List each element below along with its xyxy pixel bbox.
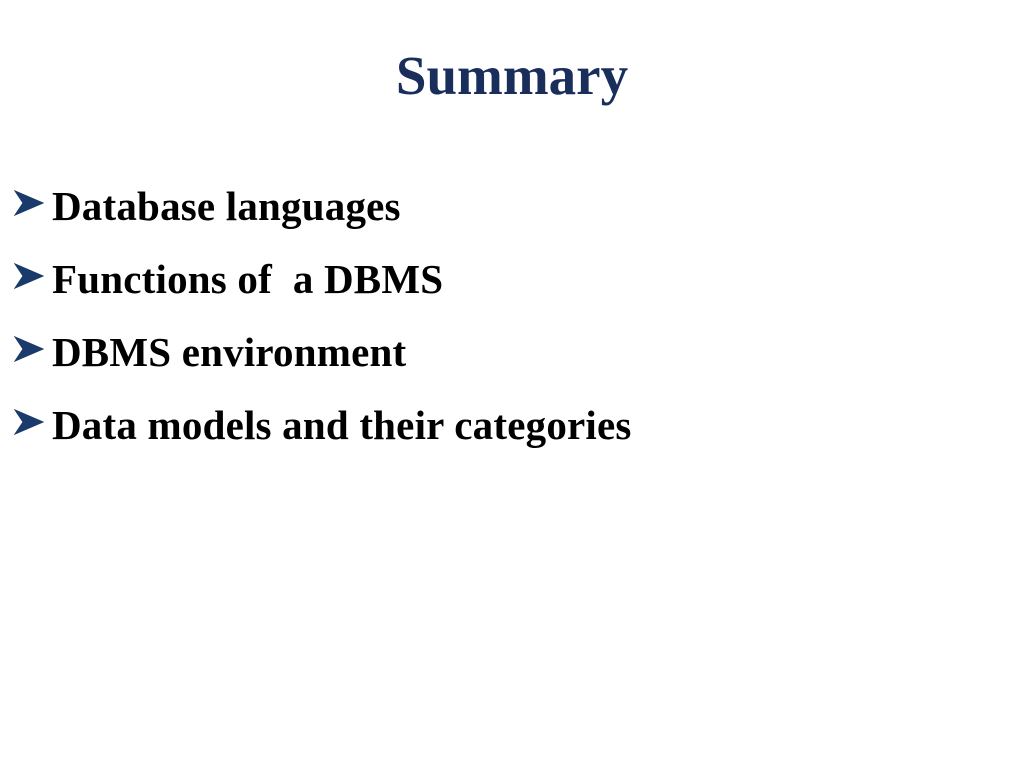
list-item-label: DBMS environment <box>52 329 406 375</box>
list-item: DBMS environment <box>14 326 1010 399</box>
arrowhead-right-icon <box>14 250 52 290</box>
list-item-label: Data models and their categories <box>52 402 632 448</box>
arrowhead-right-icon <box>14 396 52 436</box>
arrowhead-right-icon <box>14 323 52 363</box>
summary-bullet-list: Database languages Functions of a DBMS D… <box>14 180 1010 472</box>
list-item: Database languages <box>14 180 1010 253</box>
list-item-label: Database languages <box>52 183 401 229</box>
list-item-label: Functions of a DBMS <box>52 256 443 302</box>
list-item: Functions of a DBMS <box>14 253 1010 326</box>
presentation-slide: Summary Database languages Functions of … <box>0 0 1024 768</box>
arrowhead-right-icon <box>14 177 52 217</box>
page-title: Summary <box>0 44 1024 108</box>
list-item: Data models and their categories <box>14 399 1010 472</box>
